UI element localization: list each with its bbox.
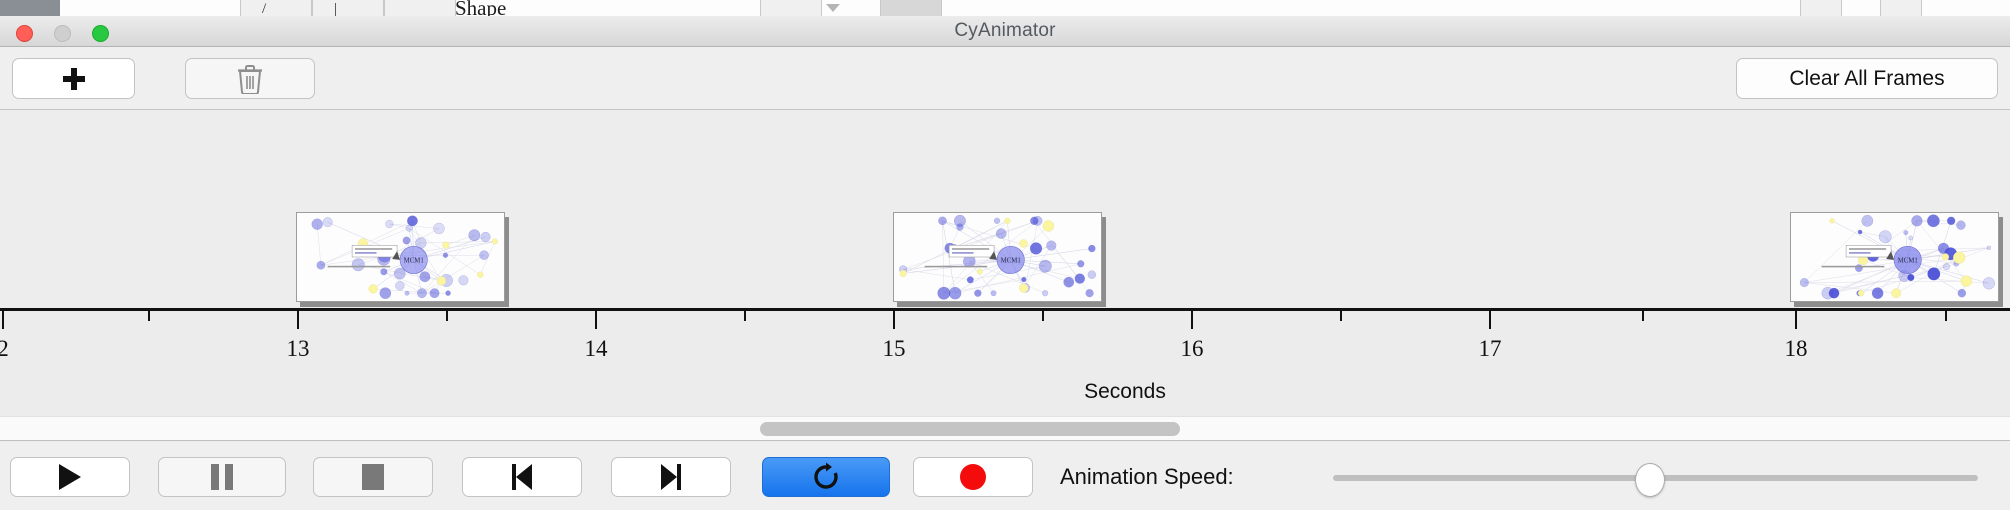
clear-all-frames-label: Clear All Frames — [1789, 67, 1944, 91]
window-title: CyAnimator — [0, 16, 2010, 46]
hub-node-label: MCM1 — [404, 257, 424, 264]
background-segment — [1800, 0, 1842, 16]
axis-tick-label: 15 — [883, 336, 906, 362]
background-window-label: Shape — [455, 0, 506, 17]
plus-icon — [63, 68, 85, 90]
skip-previous-button[interactable] — [462, 457, 582, 497]
axis-tick-minor — [148, 311, 150, 321]
loop-icon — [811, 462, 841, 492]
timeline-axis — [0, 308, 2010, 311]
background-glyph: / — [262, 1, 266, 17]
play-button[interactable] — [10, 457, 130, 497]
hub-node-label: MCM1 — [1001, 257, 1021, 264]
timeline-frame[interactable]: MCM1 — [1790, 212, 2003, 307]
background-segment — [384, 0, 456, 16]
network-graph: MCM1 — [297, 213, 504, 301]
background-glyph: | — [334, 1, 337, 17]
axis-tick-minor — [744, 311, 746, 321]
animation-speed-label: Animation Speed: — [1060, 457, 1234, 497]
trash-icon — [237, 64, 263, 94]
animation-speed-thumb[interactable] — [1635, 463, 1665, 497]
axis-tick-minor — [1945, 311, 1947, 321]
skip-previous-icon — [512, 464, 532, 490]
axis-tick-label: 18 — [1785, 336, 1808, 362]
axis-tick-label: 2 — [0, 336, 9, 362]
delete-frame-button[interactable] — [185, 58, 315, 99]
title-bar[interactable]: CyAnimator — [0, 16, 2010, 47]
background-segment — [240, 0, 312, 16]
record-icon — [960, 464, 986, 490]
axis-tick-label: 17 — [1479, 336, 1502, 362]
axis-tick-major — [1795, 311, 1797, 329]
axis-tick-minor — [1042, 311, 1044, 321]
pause-icon — [211, 464, 233, 490]
background-arrow-icon — [826, 4, 840, 12]
axis-title: Seconds — [0, 380, 2010, 404]
toolbar: Clear All Frames — [0, 47, 2010, 110]
axis-tick-major — [1191, 311, 1193, 329]
axis-tick-minor — [446, 311, 448, 321]
add-frame-button[interactable] — [12, 58, 135, 99]
axis-tick-label: 16 — [1181, 336, 1204, 362]
frame-thumbnail: MCM1 — [1790, 212, 1999, 302]
background-tab — [0, 0, 60, 16]
axis-tick-major — [2, 311, 4, 329]
background-window: / | Shape — [0, 0, 2010, 17]
record-button[interactable] — [913, 457, 1033, 497]
skip-next-button[interactable] — [611, 457, 731, 497]
timeline-frame[interactable]: MCM1 — [296, 212, 509, 307]
axis-tick-minor — [1642, 311, 1644, 321]
axis-tick-minor — [1340, 311, 1342, 321]
stop-button[interactable] — [313, 457, 433, 497]
stop-icon — [362, 464, 384, 490]
axis-tick-label: 13 — [287, 336, 310, 362]
cyanimator-window: / | Shape CyAnimator Clear All Frames — [0, 0, 2010, 510]
network-graph: MCM1 — [894, 213, 1101, 301]
clear-all-frames-button[interactable]: Clear All Frames — [1736, 58, 1998, 99]
hub-node-label: MCM1 — [1898, 257, 1918, 264]
axis-tick-major — [1489, 311, 1491, 329]
background-segment — [880, 0, 942, 16]
axis-tick-major — [595, 311, 597, 329]
axis-tick-label: 14 — [585, 336, 608, 362]
timeline-scrollbar[interactable] — [0, 416, 2010, 441]
axis-title-label: Seconds — [1084, 380, 1166, 403]
frame-thumbnail: MCM1 — [893, 212, 1102, 302]
timeline-scrollbar-thumb[interactable] — [760, 422, 1180, 436]
loop-button[interactable] — [762, 457, 890, 497]
background-segment — [760, 0, 822, 16]
timeline-frame[interactable]: MCM1 — [893, 212, 1106, 307]
axis-tick-major — [893, 311, 895, 329]
skip-next-icon — [661, 464, 681, 490]
background-segment — [312, 0, 384, 16]
frame-thumbnail: MCM1 — [296, 212, 505, 302]
background-segment — [1880, 0, 1922, 16]
play-icon — [59, 464, 81, 490]
axis-tick-major — [297, 311, 299, 329]
playback-controls: Animation Speed: — [0, 442, 2010, 510]
network-graph: MCM1 — [1791, 213, 1998, 301]
pause-button[interactable] — [158, 457, 286, 497]
